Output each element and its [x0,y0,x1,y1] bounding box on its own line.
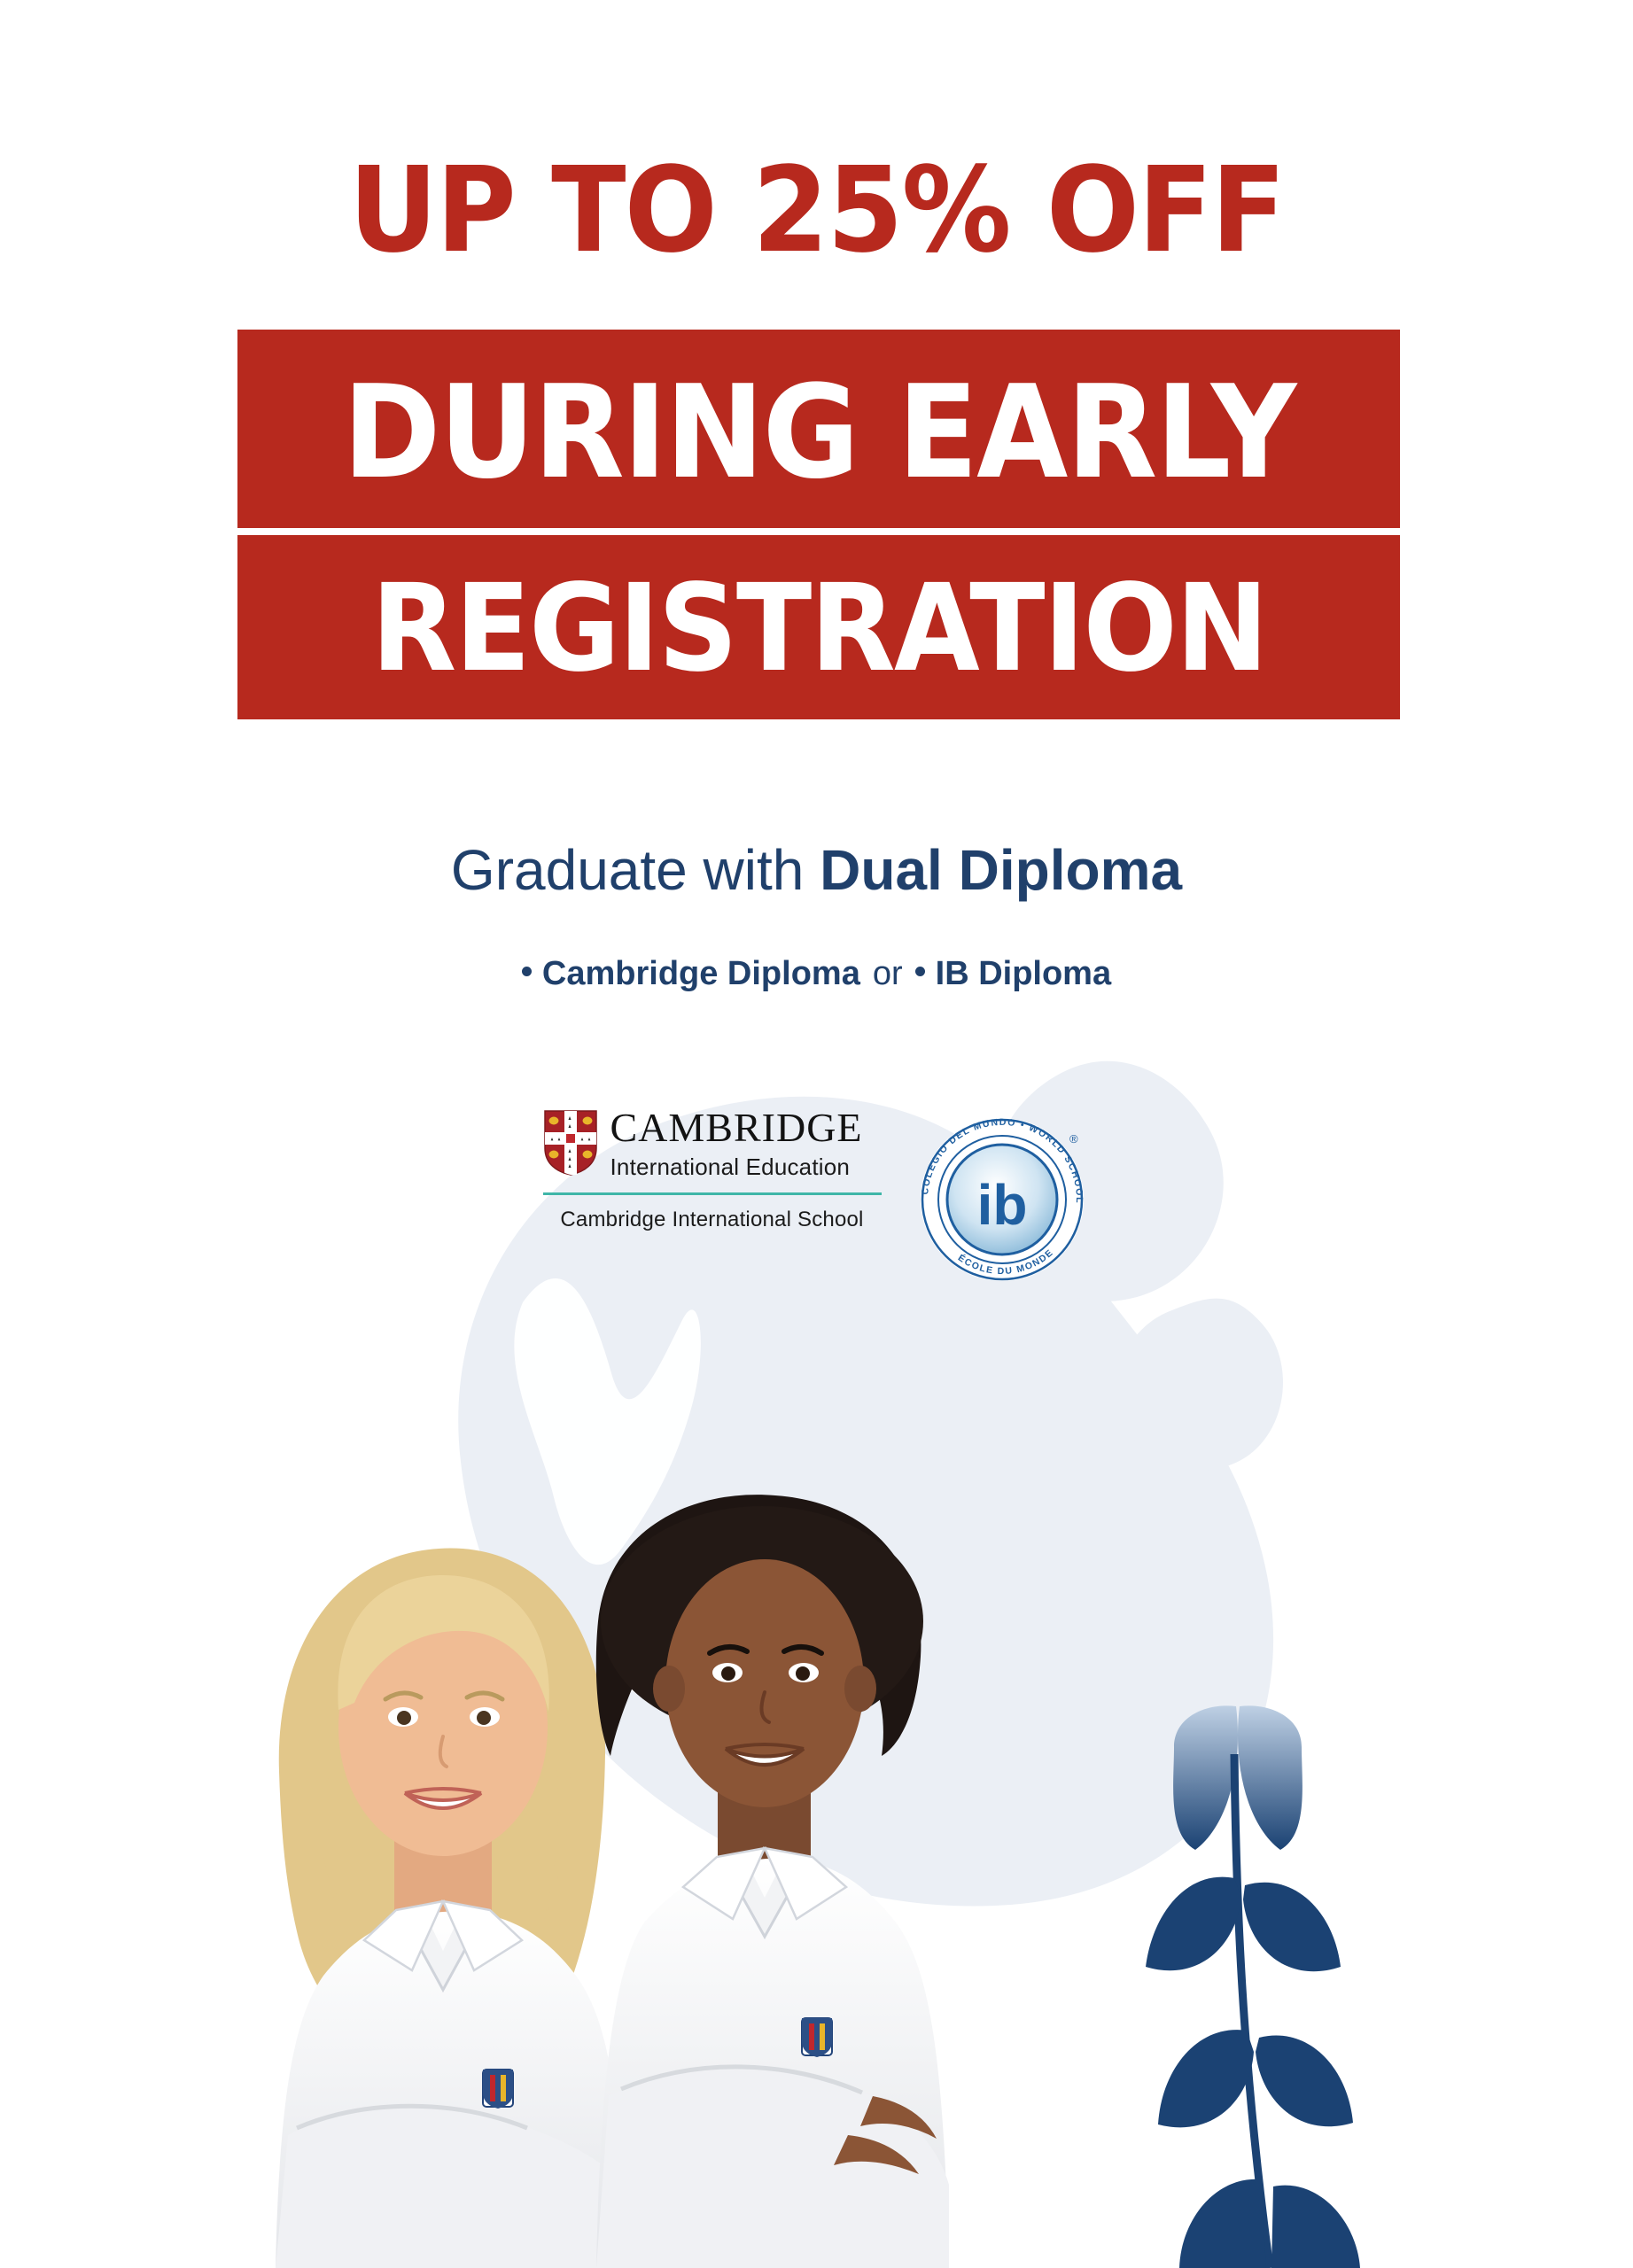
accreditation-logos-row: CAMBRIDGE International Education Cambri… [0,1107,1633,1288]
cambridge-subtitle: International Education [610,1155,863,1178]
bullet-dot-icon [915,967,925,976]
cambridge-logo-top: CAMBRIDGE International Education [543,1107,882,1178]
decorative-leaf-graphic [1137,1701,1633,2268]
svg-text:ib: ib [976,1173,1027,1237]
subtitle-line: Graduate with Dual Diploma [0,837,1633,903]
students-photo [191,1355,1156,2268]
cambridge-divider [543,1192,882,1195]
cambridge-school-label: Cambridge International School [543,1208,882,1232]
ib-world-school-logo: COLEGIO DEL MUNDO • WORLD SCHOOL ÉCOLE D… [914,1111,1091,1288]
banner-line-1: DURING EARLY [343,369,1295,497]
diploma-separator: or [860,955,915,992]
cambridge-wordmark: CAMBRIDGE International Education [610,1107,863,1178]
banner-bar-during-early: DURING EARLY [237,330,1400,528]
poster-canvas: UP TO 25% OFF DURING EARLY REGISTRATION … [0,0,1633,2268]
bullet-dot-icon [522,967,532,976]
diploma-option-cambridge: Cambridge Diploma [542,955,860,992]
banner-line-2: REGISTRATION [371,569,1267,689]
cambridge-logo: CAMBRIDGE International Education Cambri… [543,1107,882,1232]
svg-text:®: ® [1069,1132,1078,1146]
subtitle-plain-text: Graduate with [451,838,820,902]
student-left [276,1549,626,2268]
school-crest-badge [802,2018,832,2057]
student-right [596,1495,949,2268]
cambridge-crest-icon [543,1109,598,1177]
page-headline: UP TO 25% OFF [58,152,1576,270]
banner-bar-registration: REGISTRATION [237,535,1400,719]
diploma-options-line: Cambridge DiplomaorIB Diploma [0,955,1633,993]
subtitle-bold-text: Dual Diploma [820,838,1182,902]
cambridge-title: CAMBRIDGE [610,1107,863,1148]
diploma-option-ib: IB Diploma [936,955,1111,992]
school-crest-badge [483,2070,513,2109]
